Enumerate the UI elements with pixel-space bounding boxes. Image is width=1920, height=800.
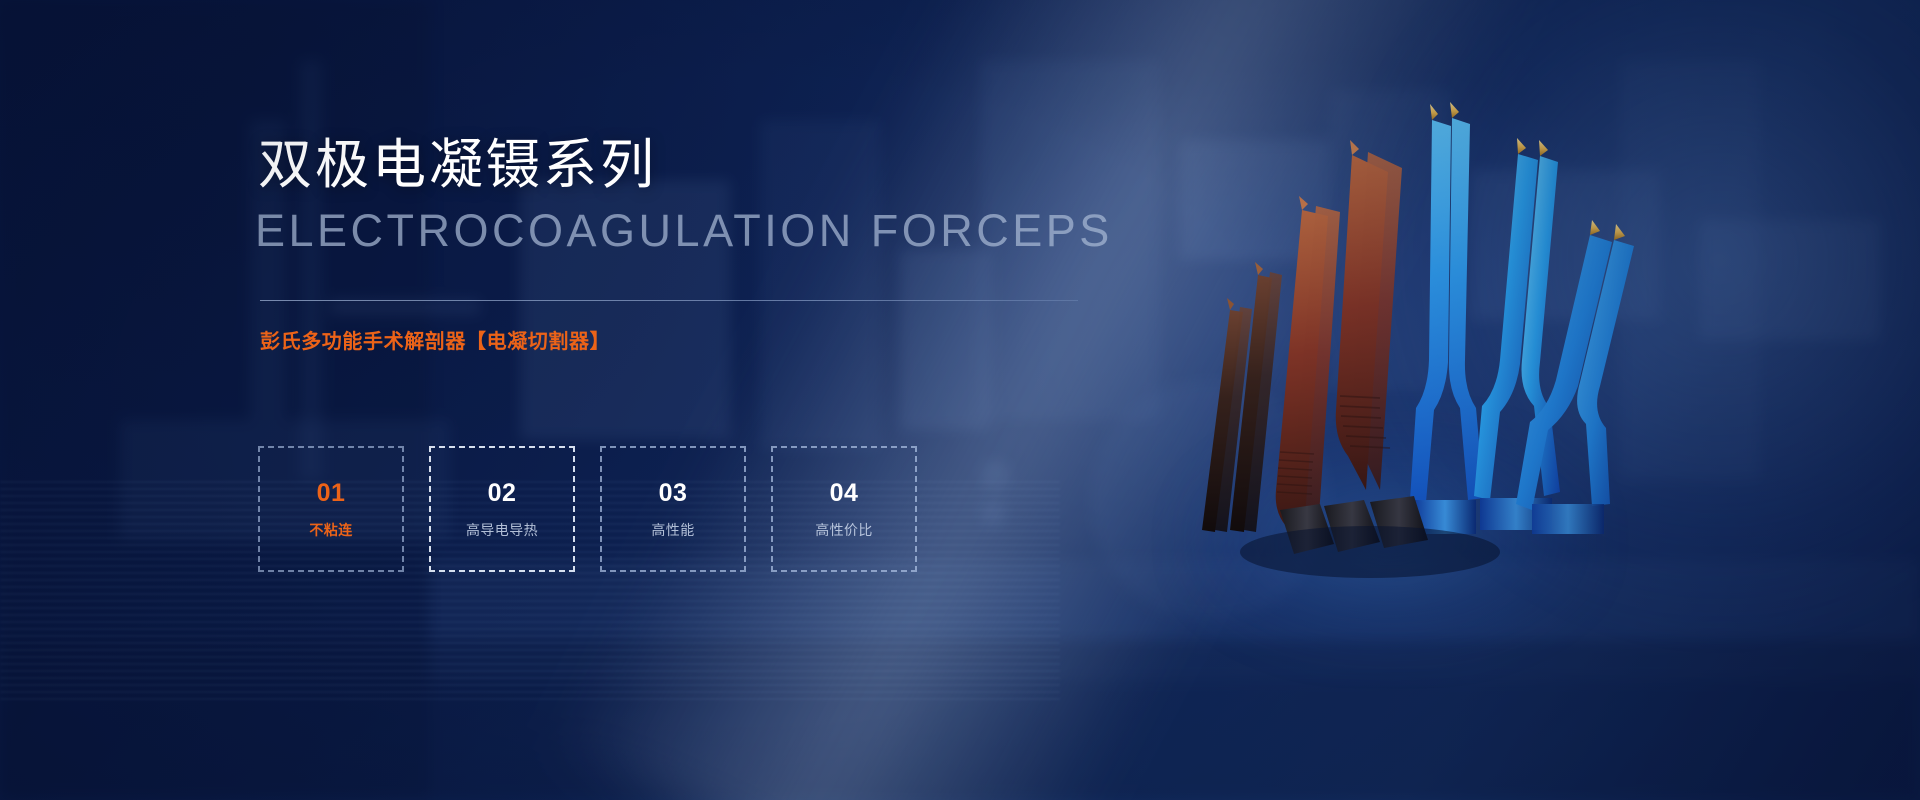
- product-banner: 双极电凝镊系列 ELECTROCOAGULATION FORCEPS 彭氏多功能…: [0, 0, 1920, 800]
- feature-number: 03: [659, 481, 688, 506]
- forceps-blue-2: [1474, 138, 1560, 530]
- feature-card-04[interactable]: 04 高性价比: [771, 446, 917, 572]
- feature-number: 04: [830, 481, 859, 506]
- feature-number: 02: [488, 481, 517, 506]
- page-title: 双极电凝镊系列: [258, 138, 657, 192]
- feature-card-01[interactable]: 01 不粘连: [258, 446, 404, 572]
- feature-label: 高性价比: [815, 523, 873, 537]
- forceps-blue-1: [1410, 102, 1484, 534]
- title-divider: [260, 300, 1078, 301]
- text-column: 双极电凝镊系列 ELECTROCOAGULATION FORCEPS 彭氏多功能…: [258, 0, 1218, 800]
- forceps-bronze-1: [1276, 196, 1340, 530]
- product-tagline: 彭氏多功能手术解剖器【电凝切割器】: [260, 332, 610, 352]
- feature-number: 01: [317, 481, 346, 506]
- feature-list: 01 不粘连 02 高导电导热 03 高性能 04 高性价比: [258, 446, 917, 572]
- feature-label: 高性能: [651, 523, 694, 537]
- product-image-forceps: [1080, 60, 1640, 620]
- feature-label: 高导电导热: [466, 523, 538, 537]
- feature-card-02[interactable]: 02 高导电导热: [429, 446, 575, 572]
- feature-card-03[interactable]: 03 高性能: [600, 446, 746, 572]
- forceps-bronze-2: [1336, 140, 1402, 490]
- feature-label: 不粘连: [309, 523, 352, 537]
- page-subtitle-english: ELECTROCOAGULATION FORCEPS: [255, 208, 1113, 253]
